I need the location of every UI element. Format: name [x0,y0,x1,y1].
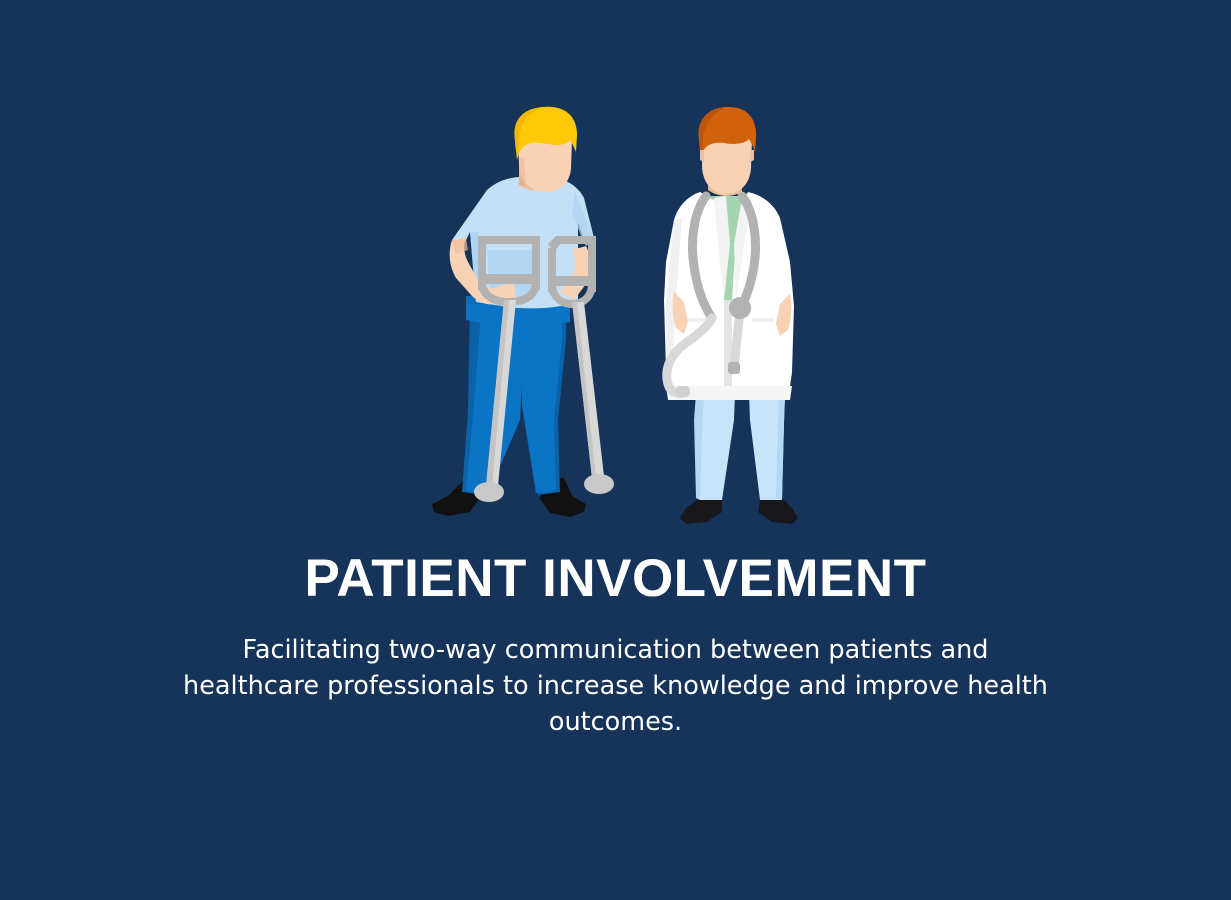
page-subtitle: Facilitating two-way communication betwe… [176,632,1056,740]
patient-figure [432,107,614,517]
doctor-shoes [680,498,798,524]
patient-head [514,107,577,192]
patient-pants [462,296,570,495]
doctor-figure [664,107,798,524]
slide-root: PATIENT INVOLVEMENT Facilitating two-way… [0,0,1231,900]
patient-and-doctor-illustration [0,0,1231,560]
text-block: PATIENT INVOLVEMENT Facilitating two-way… [0,548,1231,740]
page-title: PATIENT INVOLVEMENT [0,548,1231,610]
doctor-head [698,107,756,194]
patient-shoes [432,478,586,517]
